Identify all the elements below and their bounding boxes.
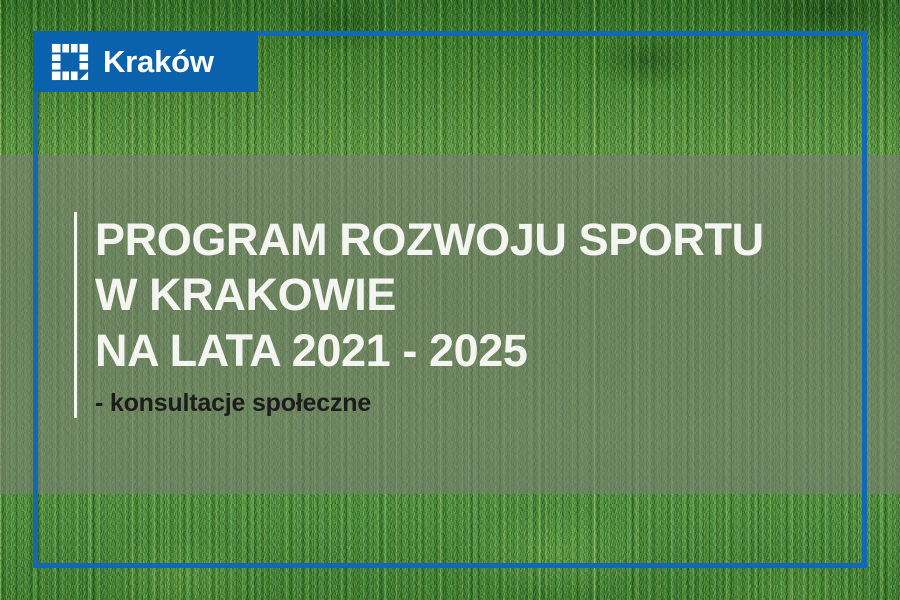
headline-block: PROGRAM ROZWOJU SPORTU W KRAKOWIE NA LAT… xyxy=(74,212,764,418)
krakow-wordmark: Kraków xyxy=(103,46,214,77)
krakow-logo-banner[interactable]: Kraków xyxy=(33,31,258,92)
headline-subtitle: - konsultacje społeczne xyxy=(95,388,764,418)
headline-line-2: W KRAKOWIE xyxy=(95,267,764,322)
headline-line-1: PROGRAM ROZWOJU SPORTU xyxy=(95,212,764,267)
poster-canvas: Kraków PROGRAM ROZWOJU SPORTU W KRAKOWIE… xyxy=(0,0,900,600)
headline-text-group: PROGRAM ROZWOJU SPORTU W KRAKOWIE NA LAT… xyxy=(95,212,764,418)
vertical-accent-rule xyxy=(74,212,77,418)
krakow-logo-icon xyxy=(51,43,89,81)
headline-line-3: NA LATA 2021 - 2025 xyxy=(95,323,764,378)
